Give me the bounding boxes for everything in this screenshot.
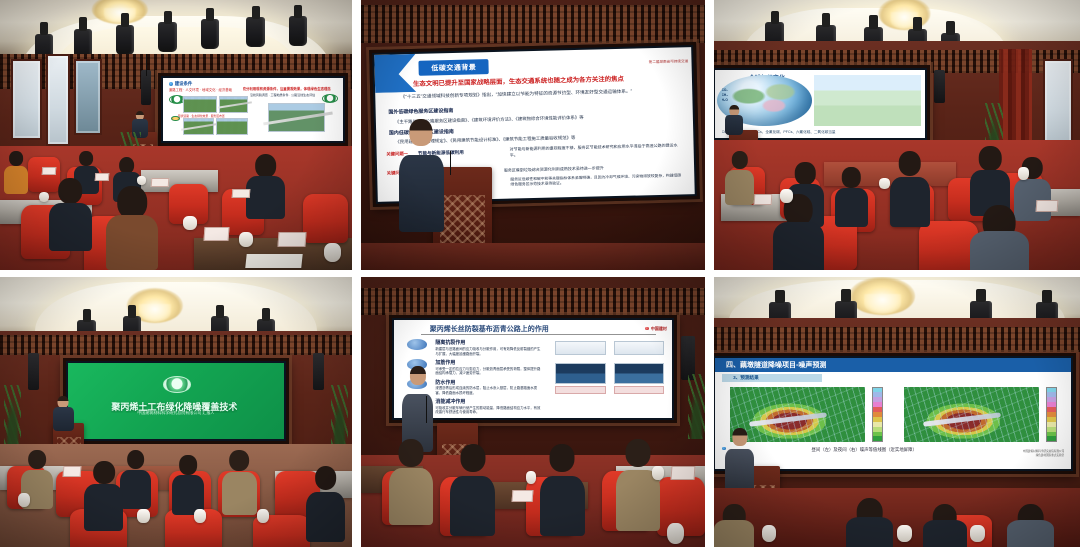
conference-room-scene-1: 建设条件 道路工程 · 人文环境 · 地域文化 · 经济基础 充分利用现有资源条… (0, 0, 352, 270)
name-card (42, 167, 57, 175)
attendee (846, 498, 894, 547)
bullet-icon-1 (407, 339, 427, 350)
presenter-body (725, 115, 743, 135)
bullet-heading-1: 隔离抗裂作用 (435, 339, 465, 346)
noise-contour-map-night (904, 387, 1039, 443)
presenter-body (53, 407, 74, 431)
photo-panel-5[interactable]: 聚丙烯长丝防裂基布沥青公路上的作用 中国建材 隔离抗裂作用 新建层与旧路面间的应… (361, 277, 705, 547)
teacup (897, 525, 912, 541)
teacup (137, 176, 146, 185)
bullet-text-3: 浸透沥青后形成连续的防水层，阻止水渗入基层，防止路基路面水损害，降低路面水损坏程… (435, 386, 541, 395)
diagram-cross-section-a (555, 341, 605, 355)
slide-logo: 中国建材 (645, 326, 667, 332)
conference-room-scene-4: 聚丙烯土工布绿化降噪覆盖技术 中国建筑材料科学研究总院有限公司 汇报人 (0, 277, 352, 547)
attendee (773, 194, 824, 270)
potted-plant-left (4, 385, 22, 444)
presenter-head (410, 366, 426, 385)
legend-night (1046, 387, 1057, 443)
teacup (652, 466, 664, 480)
slide-corner-label: 第二届湖南省可持续交通 (649, 59, 689, 65)
attendee (923, 504, 967, 547)
conference-room-scene-5: 聚丙烯长丝防裂基布沥青公路上的作用 中国建材 隔离抗裂作用 新建层与旧路面间的应… (361, 277, 705, 547)
potted-plant (688, 374, 705, 439)
slide-body-1: 《"十三五"交通领域科技创新专项规划》指出，"加快建立以节能为特征的资源节约型、… (401, 88, 633, 100)
fabric-caption-1 (555, 386, 605, 394)
name-card (278, 232, 307, 247)
slide-photo-aerial-2 (219, 96, 248, 114)
slide-caption: 昼间（左）及夜间（右）噪声等值线图（近实地屏障） (811, 447, 916, 453)
teacup (324, 243, 342, 262)
ceiling-speaker-box (681, 336, 695, 379)
attendee (222, 450, 257, 515)
speaker-box-right (313, 353, 324, 391)
attendee (970, 205, 1029, 270)
window-left-3 (74, 59, 102, 135)
slide-section-label: 3、预测结果 (733, 375, 759, 381)
teacup (257, 509, 269, 523)
teacup (667, 523, 684, 545)
name-card (95, 173, 110, 181)
teacup (879, 178, 890, 189)
bullet-heading-4: 消能减冲作用 (435, 398, 465, 405)
led-screen-4: 聚丙烯土工布绿化降噪覆盖技术 中国建筑材料科学研究总院有限公司 汇报人 (63, 358, 288, 444)
presenter-6 (725, 428, 754, 493)
photo-gallery-grid: 建设条件 道路工程 · 人文环境 · 地域文化 · 经济基础 充分利用现有资源条… (0, 0, 1080, 547)
name-card (204, 227, 230, 241)
attendee (4, 151, 29, 194)
attendee (450, 444, 495, 536)
photo-panel-6[interactable]: 四、藕墩隧道降噪项目-噪声预测 3、预测结果 (714, 277, 1080, 547)
conference-room-scene-3: 全球气候变化 概要 CO₂ CH₄ H₂O CO₂、CH₄、N₂O、HFCs、全… (714, 0, 1080, 270)
teacup (780, 189, 793, 203)
presenter-head (410, 119, 433, 146)
photo-panel-1[interactable]: 建设条件 道路工程 · 人文环境 · 地域文化 · 经济基础 充分利用现有资源条… (0, 0, 352, 270)
conference-room-scene-6: 四、藕墩隧道降噪项目-噪声预测 3、预测结果 (714, 277, 1080, 547)
teacup (239, 232, 253, 247)
fabric-photo-2 (614, 363, 664, 385)
photo-panel-3[interactable]: 全球气候变化 概要 CO₂ CH₄ H₂O CO₂、CH₄、N₂O、HFCs、全… (714, 0, 1080, 270)
window-left-2 (46, 54, 71, 146)
slide-5: 聚丙烯长丝防裂基布沥青公路上的作用 中国建材 隔离抗裂作用 新建层与旧路面间的应… (394, 320, 673, 418)
slide-subtitle: 中国建筑材料科学研究总院有限公司 汇报人 (137, 410, 214, 416)
teacup (194, 509, 206, 523)
bullet-heading-2: 加筋作用 (435, 359, 455, 366)
teacup (762, 525, 777, 541)
attendee (714, 504, 754, 547)
slide-chip-title: 低碳交通背景 (419, 59, 489, 75)
slide-headline: 生态文明已提升至国家战略层面，生态交通系统也随之成为各方关注的焦点 (413, 74, 624, 88)
speaker-box-left (28, 353, 39, 391)
slide-caption-sub: 沿线风貌调查 · 工程地质条件 · 公路沿线生态评估 (250, 93, 315, 97)
window-right (1043, 59, 1072, 145)
attendee (835, 167, 868, 226)
logo-dot-icon (169, 82, 173, 86)
attendee (616, 439, 661, 531)
slide-logo: 建设条件 (169, 81, 193, 87)
attendee (120, 450, 152, 509)
handheld-microphone (426, 396, 427, 423)
attendee (306, 466, 345, 542)
attendee (389, 439, 434, 525)
lattice-frieze (714, 327, 1080, 352)
slide-4: 聚丙烯土工布绿化降噪覆盖技术 中国建筑材料科学研究总院有限公司 汇报人 (68, 363, 283, 439)
slide-footer-right: 中国建筑材料科学研究总院有限公司 绿色建材国家重点实验室 (1023, 449, 1065, 457)
mic-stand (146, 54, 147, 76)
bullet-heading-3: 防水作用 (435, 379, 455, 386)
led-screen-1: 建设条件 道路工程 · 人文环境 · 地域文化 · 经济基础 充分利用现有资源条… (158, 73, 348, 146)
slide-3: 全球气候变化 概要 CO₂ CH₄ H₂O CO₂、CH₄、N₂O、HFCs、全… (715, 70, 925, 138)
teacup (526, 471, 536, 483)
eco-badge-right (322, 94, 338, 103)
ceiling-speaker-box (934, 70, 945, 102)
carbon-cycle-diagram (814, 75, 921, 126)
teacup (183, 216, 197, 230)
name-card (232, 189, 250, 198)
globe-label-co2: CO₂ (722, 88, 728, 92)
presenter-4 (53, 396, 74, 431)
slide-title: 聚丙烯长丝防裂基布沥青公路上的作用 (430, 324, 549, 334)
slide-photo-bridge (268, 103, 326, 132)
attendee (725, 151, 754, 205)
diagram-cross-section-b (614, 341, 664, 355)
slide-marker-icon (171, 116, 180, 122)
slide-photo-aerial-4 (216, 118, 248, 135)
slide-photo-aerial-3 (183, 118, 214, 135)
slide-headline-right: 充分利用现有资源条件，注重景观效果，体现绿色生态理念 (243, 86, 331, 91)
slide-key-2-subtitle: 服务区餐厨垃圾综合资源化利用成熟技术亟待进一步提升 (504, 165, 604, 173)
slide-section-1: 国外低碳绿色服务区建设指南 (389, 107, 454, 116)
podium-microphone (450, 151, 451, 175)
lattice-frieze (361, 288, 705, 315)
slide-1: 建设条件 道路工程 · 人文环境 · 地域文化 · 经济基础 充分利用现有资源条… (163, 78, 343, 141)
fabric-photo-1 (555, 363, 605, 385)
photo-panel-2[interactable]: 低碳交通背景 第二届湖南省可持续交通 生态文明已提升至国家战略层面，生态交通系统… (361, 0, 705, 270)
lattice-frieze (0, 335, 352, 354)
attendee (106, 186, 159, 270)
presenter-2 (399, 119, 444, 232)
attendee (246, 154, 285, 219)
teacup (970, 525, 985, 541)
lattice-frieze (361, 5, 705, 43)
name-card (670, 466, 695, 480)
attendee (540, 444, 585, 536)
attendee (890, 151, 930, 227)
teacup (1018, 167, 1029, 179)
logo-dot-icon (645, 327, 649, 331)
slide-corner-flag (375, 54, 417, 93)
bullet-text-1: 新建层与旧路面间的应力吸收与分散作用，可有效降低反射裂缝的产生与扩展，大幅度延缓… (435, 347, 541, 356)
bullet-text-2: 可承受一定的拉应力与剪应力，分散沥青面层承受的荷载，整体提升路面结构承载力，减少… (435, 367, 541, 376)
slide-6: 四、藕墩隧道降噪项目-噪声预测 3、预测结果 (715, 358, 1071, 470)
presenter-3 (725, 105, 743, 135)
slide-photo-aerial-1 (183, 96, 217, 114)
presenter-body (725, 449, 754, 493)
teacup (18, 493, 30, 507)
attendee (1007, 504, 1055, 547)
chair (919, 221, 978, 270)
slide-logo-text: 建设条件 (175, 81, 193, 87)
name-card (63, 466, 81, 477)
name-card (1036, 200, 1059, 212)
potted-plant-right (331, 385, 349, 444)
legend-day (872, 387, 883, 443)
attendee (172, 455, 204, 514)
chair (303, 194, 349, 243)
notebook (246, 254, 304, 268)
name-card (151, 178, 169, 187)
name-card (754, 194, 773, 205)
teacup (137, 509, 149, 523)
floor (361, 243, 705, 270)
attendee (49, 178, 91, 251)
bullet-text-4: 可吸收并分散车辆行驶产生的振动能量，降低路面结构应力水平，有效改善行车舒适性与使… (435, 406, 541, 415)
globe-label-h2o: H₂O (722, 98, 728, 102)
fabric-caption-2 (614, 386, 664, 394)
slide-header-title: 四、藕墩隧道降噪项目-噪声预测 (726, 360, 826, 370)
slide-key-1-text: 对节能与新能源利用的重视程度不够，服务区节能技术研究和应用水平滞后于高速公路的建… (510, 143, 681, 159)
slide-headline-left: 道路工程 · 人文环境 · 地域文化 · 经济基础 (169, 87, 232, 92)
globe-label-ch4: CH₄ (722, 93, 728, 97)
attendee (84, 461, 123, 531)
conference-room-scene-2: 低碳交通背景 第二届湖南省可持续交通 生态文明已提升至国家战略层面，生态交通系统… (361, 0, 705, 270)
name-card (512, 490, 533, 502)
window-left (11, 59, 43, 140)
slide-logo-text: 中国建材 (651, 326, 667, 332)
photo-panel-4[interactable]: 聚丙烯土工布绿化降噪覆盖技术 中国建筑材料科学研究总院有限公司 汇报人 (0, 277, 352, 547)
green-leaf-emblem (163, 376, 191, 393)
presenter-body (399, 155, 444, 232)
presenter-head (732, 428, 747, 445)
led-screen-6: 四、藕墩隧道降噪项目-噪声预测 3、预测结果 (714, 353, 1076, 475)
slide-key-2-text: 服务区低碳性和碳中和等关键指标体系亟需明确，且因为冷却气候环境、污染物排放较复杂… (511, 173, 682, 187)
